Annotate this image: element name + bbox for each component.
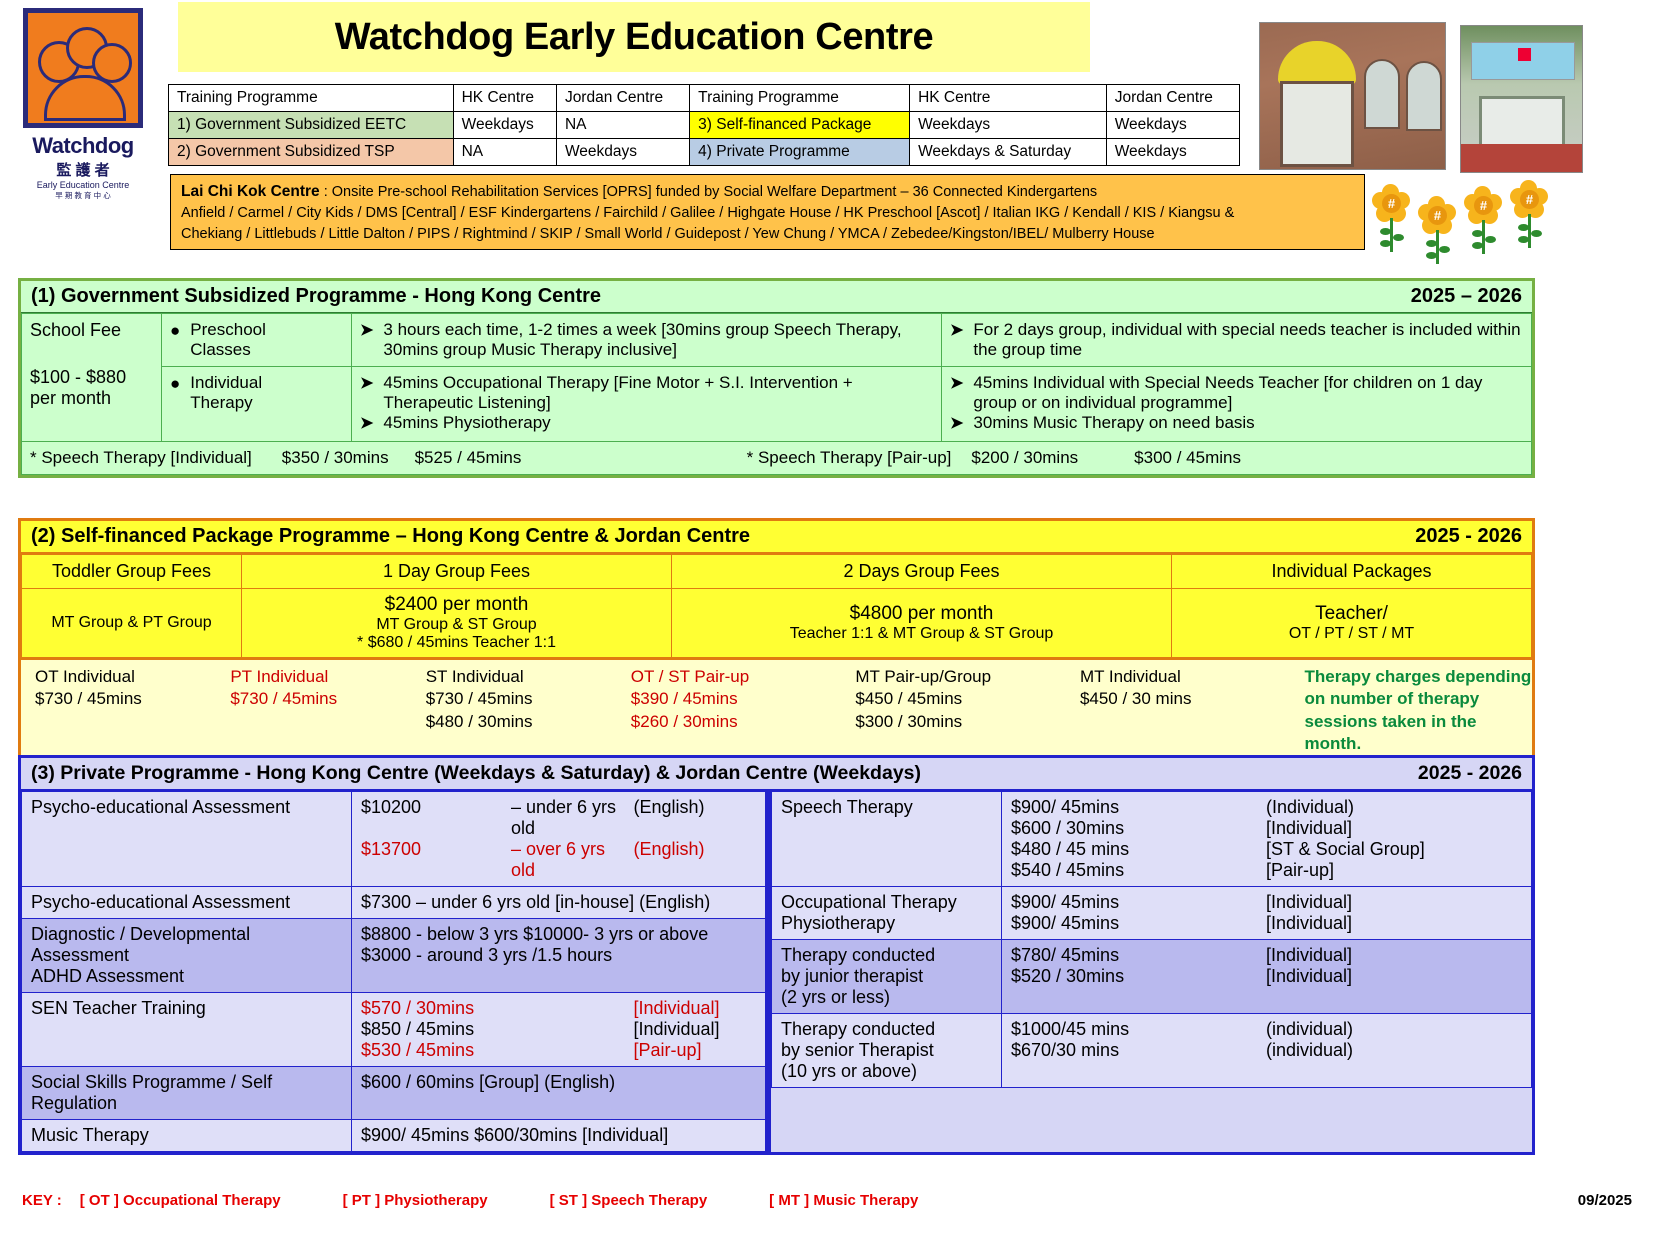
price-language: [Individual]	[634, 1019, 757, 1040]
price-note: – under 6 yrs old	[511, 797, 634, 839]
header-cell: Weekdays	[1106, 139, 1239, 166]
lai-chi-kok-info-box: Lai Chi Kok Centre : Onsite Pre-school R…	[170, 174, 1365, 250]
lck-label: Lai Chi Kok Centre	[181, 183, 320, 200]
section1-bullet-cell: ●IndividualTherapy	[162, 367, 352, 442]
section3-years: 2025 - 2026	[1418, 762, 1522, 785]
section3-therapy-price-cell: $780/ 45mins[Individual]$520 / 30mins[In…	[1002, 940, 1532, 1014]
awning-shape	[1278, 41, 1356, 85]
arch-window-2	[1406, 61, 1442, 131]
arrow-icon: ➤	[950, 320, 963, 342]
individual-title: OT / ST Pair-up	[631, 666, 842, 688]
price-line: $900/ 45mins $600/30mins [Individual]	[361, 1125, 756, 1146]
label-line: Therapy conducted	[781, 1019, 992, 1040]
price-note	[511, 998, 634, 1019]
price-amount: $900/ 45mins	[1011, 913, 1266, 934]
logo-name: Watchdog	[32, 133, 134, 159]
section2-body-line: $2400 per month	[248, 594, 665, 616]
price-line: $7300 – under 6 yrs old [in-house] (Engl…	[361, 892, 756, 913]
label-line: SEN Teacher Training	[31, 998, 342, 1019]
header-cell: 1) Government Subsidized EETC	[169, 112, 454, 139]
logo-chinese: 監 護 者	[56, 159, 109, 180]
price-note: [Individual]	[1266, 892, 1522, 913]
label-line: Social Skills Programme / Self Regulatio…	[31, 1072, 342, 1114]
section2-body-cell: $4800 per monthTeacher 1:1 & MT Group & …	[672, 589, 1172, 658]
section3-right-column: Speech Therapy$900/ 45mins(Individual)$6…	[771, 791, 1532, 1152]
individual-title: PT Individual	[230, 666, 411, 688]
section2-individual-item: MT Pair-up/Group$450 / 45mins$300 / 30mi…	[841, 666, 1066, 756]
individual-price: $390 / 45mins	[631, 688, 842, 710]
bullet-icon: ●	[170, 373, 180, 413]
label-line: Speech Therapy	[781, 797, 992, 818]
flower-icon: #	[1510, 180, 1548, 218]
hk-centre-photo	[1259, 22, 1446, 170]
page-header: Watchdog 監 護 者 Early Education Centre 早 …	[0, 0, 1653, 262]
section3-right-row: Therapy conductedby junior therapist(2 y…	[772, 940, 1532, 1014]
section2-body-line: OT / PT / ST / MT	[1178, 625, 1525, 643]
header-col-5: HK Centre	[910, 85, 1107, 112]
section1-right-text: 45mins Individual with Special Needs Tea…	[973, 373, 1523, 413]
section2-body-line: Teacher 1:1 & MT Group & ST Group	[678, 625, 1165, 643]
price-note: (individual)	[1266, 1040, 1522, 1061]
individual-price: $450 / 30 mins	[1080, 688, 1291, 710]
price-note: [Individual]	[1266, 913, 1522, 934]
section3-price-cell: $570 / 30mins[Individual]$850 / 45mins[I…	[352, 993, 766, 1067]
header-col-6: Jordan Centre	[1106, 85, 1239, 112]
flower-icon: #	[1464, 186, 1502, 224]
section1-mid-text: 3 hours each time, 1-2 times a week [30m…	[383, 320, 933, 360]
note-line: on number of therapy	[1305, 688, 1532, 710]
price-amount: $520 / 30mins	[1011, 966, 1266, 987]
lck-line3: Chekiang / Littlebuds / Little Dalton / …	[181, 224, 1354, 245]
price-amount: $1000/45 mins	[1011, 1019, 1266, 1040]
individual-price: $730 / 45mins	[230, 688, 411, 710]
price-amount: $570 / 30mins	[361, 998, 511, 1019]
header-cell: Weekdays	[1106, 112, 1239, 139]
section3-therapy-price-cell: $1000/45 mins(individual)$670/30 mins(in…	[1002, 1014, 1532, 1088]
price-amount: $900/ 45mins	[1011, 797, 1266, 818]
section2-header: 2 Days Group Fees	[672, 555, 1172, 589]
price-amount: $600 / 30mins	[1011, 818, 1266, 839]
section1-row: School Fee$100 - $880per month●Preschool…	[22, 314, 1532, 367]
bullet-icon: ●	[170, 320, 180, 360]
header-cell: Weekdays	[556, 139, 689, 166]
header-cell: Weekdays	[453, 112, 556, 139]
label-line: Physiotherapy	[781, 913, 992, 934]
price-amount: $540 / 45mins	[1011, 860, 1266, 881]
section1-right-cell: ➤For 2 days group, individual with speci…	[942, 314, 1532, 367]
section1-table: School Fee$100 - $880per month●Preschool…	[21, 313, 1532, 475]
price-note: [Individual]	[1266, 966, 1522, 987]
price-line: $3000 - around 3 yrs /1.5 hours	[361, 945, 756, 966]
section2-header: 1 Day Group Fees	[242, 555, 672, 589]
header-col-1: Training Programme	[169, 85, 454, 112]
section1-mid-cell: ➤3 hours each time, 1-2 times a week [30…	[352, 314, 942, 367]
header-col-4: Training Programme	[690, 85, 910, 112]
section3-price-cell: $900/ 45mins $600/30mins [Individual]	[352, 1120, 766, 1152]
section-self-financed: (2) Self-financed Package Programme – Ho…	[18, 518, 1535, 767]
section3-price-cell: $8800 - below 3 yrs $10000- 3 yrs or abo…	[352, 919, 766, 993]
entrance-door	[1280, 81, 1354, 167]
school-fee-cell: School Fee$100 - $880per month	[22, 314, 162, 442]
label-line: Music Therapy	[31, 1125, 342, 1146]
wall-base	[1461, 144, 1583, 173]
section1-title: (1) Government Subsidized Programme - Ho…	[31, 285, 601, 308]
page-title-text: Watchdog Early Education Centre	[335, 16, 934, 59]
watchdog-logo: Watchdog 監 護 者 Early Education Centre 早 …	[8, 8, 158, 248]
arrow-icon: ➤	[950, 373, 963, 395]
arch-window-1	[1364, 59, 1400, 129]
section2-body-line: $4800 per month	[678, 603, 1165, 625]
logo-subtitle-en: Early Education Centre	[37, 180, 130, 190]
arrow-icon: ➤	[360, 413, 373, 435]
arrow-icon: ➤	[360, 373, 373, 395]
section1-years: 2025 – 2026	[1411, 285, 1522, 308]
section3-service-label: Psycho-educational Assessment	[22, 887, 352, 919]
section1-row: ●IndividualTherapy➤45mins Occupational T…	[22, 367, 1532, 442]
section2-body-line: MT Group & ST Group	[248, 616, 665, 634]
section2-individual-item: PT Individual$730 / 45mins	[216, 666, 411, 756]
section3-left-row: Diagnostic / Developmental AssessmentADH…	[22, 919, 766, 993]
section1-band: (1) Government Subsidized Programme - Ho…	[21, 281, 1532, 313]
price-language: [Individual]	[634, 998, 757, 1019]
page-title: Watchdog Early Education Centre	[178, 2, 1090, 72]
flower-decoration: ####	[1372, 180, 1572, 256]
speech-right-price2: $300 / 45mins	[1134, 448, 1241, 467]
section3-right-row: Therapy conductedby senior Therapist(10 …	[772, 1014, 1532, 1088]
section2-individual-fees: OT Individual$730 / 45minsPT Individual$…	[21, 658, 1532, 764]
section2-years: 2025 - 2026	[1415, 525, 1522, 548]
version-date: 09/2025	[1578, 1192, 1632, 1209]
section1-mid-text: 45mins Occupational Therapy [Fine Motor …	[383, 373, 933, 413]
price-amount: $780/ 45mins	[1011, 945, 1266, 966]
section2-individual-item: OT / ST Pair-up$390 / 45mins$260 / 30min…	[617, 666, 842, 756]
key-item: [ OT ] Occupational Therapy	[80, 1192, 281, 1209]
section1-mid-cell: ➤45mins Occupational Therapy [Fine Motor…	[352, 367, 942, 442]
label-line: by senior Therapist	[781, 1040, 992, 1061]
programme-centre-table: Training ProgrammeHK CentreJordan Centre…	[168, 84, 1240, 166]
section2-body-line: Teacher/	[1178, 603, 1525, 625]
speech-right-price1: $200 / 30mins	[971, 448, 1078, 467]
label-line: by junior therapist	[781, 966, 992, 987]
individual-title: OT Individual	[35, 666, 216, 688]
section3-service-label: Diagnostic / Developmental AssessmentADH…	[22, 919, 352, 993]
section3-service-label: Psycho-educational Assessment	[22, 792, 352, 887]
price-amount: $900/ 45mins	[1011, 892, 1266, 913]
label-line: Therapy conducted	[781, 945, 992, 966]
label-line: Diagnostic / Developmental Assessment	[31, 924, 342, 966]
key-item: [ MT ] Music Therapy	[769, 1192, 918, 1209]
header-cell: NA	[453, 139, 556, 166]
section3-therapy-label: Therapy conductedby junior therapist(2 y…	[772, 940, 1002, 1014]
price-note: [Individual]	[1266, 945, 1522, 966]
section3-band: (3) Private Programme - Hong Kong Centre…	[21, 758, 1532, 791]
section3-left-row: SEN Teacher Training$570 / 30mins[Indivi…	[22, 993, 766, 1067]
bullet-label: IndividualTherapy	[190, 373, 262, 413]
price-note: (Individual)	[1266, 797, 1522, 818]
header-cell: 2) Government Subsidized TSP	[169, 139, 454, 166]
key-legend: KEY :[ OT ] Occupational Therapy[ PT ] P…	[22, 1192, 1632, 1209]
section2-note: Therapy charges dependingon number of th…	[1291, 666, 1532, 756]
flower-icon: #	[1418, 196, 1456, 234]
individual-price: $300 / 30mins	[855, 711, 1066, 733]
section3-service-label: Social Skills Programme / Self Regulatio…	[22, 1067, 352, 1120]
key-item: [ ST ] Speech Therapy	[550, 1192, 708, 1209]
section3-right-table: Speech Therapy$900/ 45mins(Individual)$6…	[771, 791, 1532, 1088]
section2-individual-item: ST Individual$730 / 45mins$480 / 30mins	[412, 666, 617, 756]
flower-icon: #	[1372, 184, 1410, 222]
section3-title: (3) Private Programme - Hong Kong Centre…	[31, 762, 921, 785]
key-prefix: KEY :	[22, 1192, 62, 1209]
price-note: [Pair-up]	[1266, 860, 1522, 881]
section2-individual-item: OT Individual$730 / 45mins	[21, 666, 216, 756]
section3-right-row: Speech Therapy$900/ 45mins(Individual)$6…	[772, 792, 1532, 887]
section3-therapy-price-cell: $900/ 45mins[Individual]$900/ 45mins[Ind…	[1002, 887, 1532, 940]
label-line: (10 yrs or above)	[781, 1061, 992, 1082]
section3-service-label: Music Therapy	[22, 1120, 352, 1152]
section1-right-text: For 2 days group, individual with specia…	[973, 320, 1523, 360]
speech-right-label: * Speech Therapy [Pair-up]	[747, 448, 952, 467]
label-line: ADHD Assessment	[31, 966, 342, 987]
speech-left-price2: $525 / 45mins	[415, 448, 522, 467]
section3-service-label: SEN Teacher Training	[22, 993, 352, 1067]
individual-price: $450 / 45mins	[855, 688, 1066, 710]
section2-body-cell: MT Group & PT Group	[22, 589, 242, 658]
price-amount: $850 / 45mins	[361, 1019, 511, 1040]
header-cell: 4) Private Programme	[690, 139, 910, 166]
price-language: (English)	[634, 839, 757, 881]
logo-icon	[23, 8, 143, 128]
lck-line2: Anfield / Carmel / City Kids / DMS [Cent…	[181, 203, 1354, 224]
price-note: [ST & Social Group]	[1266, 839, 1522, 860]
section-private-programme: (3) Private Programme - Hong Kong Centre…	[18, 755, 1535, 1155]
speech-left-price1: $350 / 30mins	[282, 448, 389, 467]
section2-header: Toddler Group Fees	[22, 555, 242, 589]
section2-body-line: MT Group & PT Group	[28, 614, 235, 632]
section3-left-row: Social Skills Programme / Self Regulatio…	[22, 1067, 766, 1120]
bullet-label: PreschoolClasses	[190, 320, 266, 360]
section2-band: (2) Self-financed Package Programme – Ho…	[21, 521, 1532, 554]
jordan-centre-photo	[1460, 25, 1583, 173]
section3-left-row: Psycho-educational Assessment$7300 – und…	[22, 887, 766, 919]
section2-individual-item: MT Individual$450 / 30 mins	[1066, 666, 1291, 756]
fee-amount: $100 - $880	[30, 367, 153, 388]
price-amount: $10200	[361, 797, 511, 839]
label-line: Psycho-educational Assessment	[31, 892, 342, 913]
section3-price-cell: $7300 – under 6 yrs old [in-house] (Engl…	[352, 887, 766, 919]
price-line: $600 / 60mins [Group] (English)	[361, 1072, 756, 1093]
section3-right-row: Occupational TherapyPhysiotherapy$900/ 4…	[772, 887, 1532, 940]
individual-title: MT Pair-up/Group	[855, 666, 1066, 688]
key-item: [ PT ] Physiotherapy	[343, 1192, 488, 1209]
lck-line1: Onsite Pre-school Rehabilitation Service…	[332, 184, 1097, 200]
header-row: 2) Government Subsidized TSPNAWeekdays4)…	[169, 139, 1240, 166]
fee-period: per month	[30, 388, 153, 409]
section2-title: (2) Self-financed Package Programme – Ho…	[31, 525, 750, 548]
centre-banner	[1471, 42, 1575, 80]
individual-price: $730 / 45mins	[35, 688, 216, 710]
section3-price-cell: $600 / 60mins [Group] (English)	[352, 1067, 766, 1120]
section2-table: Toddler Group Fees1 Day Group Fees2 Days…	[21, 554, 1532, 658]
note-line: sessions taken in the month.	[1305, 711, 1532, 756]
price-amount: $670/30 mins	[1011, 1040, 1266, 1061]
section3-left-row: Psycho-educational Assessment$10200– und…	[22, 792, 766, 887]
header-col-2: HK Centre	[453, 85, 556, 112]
section3-therapy-label: Speech Therapy	[772, 792, 1002, 887]
fee-label: School Fee	[30, 320, 153, 341]
price-note	[511, 1040, 634, 1061]
price-note: – over 6 yrs old	[511, 839, 634, 881]
section1-bullet-cell: ●PreschoolClasses	[162, 314, 352, 367]
price-line: $8800 - below 3 yrs $10000- 3 yrs or abo…	[361, 924, 756, 945]
price-amount: $13700	[361, 839, 511, 881]
section3-left-row: Music Therapy$900/ 45mins $600/30mins [I…	[22, 1120, 766, 1152]
label-line: Psycho-educational Assessment	[31, 797, 342, 818]
section1-speech-row: * Speech Therapy [Individual]$350 / 30mi…	[22, 441, 1532, 474]
header-col-3: Jordan Centre	[556, 85, 689, 112]
price-amount: $530 / 45mins	[361, 1040, 511, 1061]
section2-body-cell: $2400 per monthMT Group & ST Group* $680…	[242, 589, 672, 658]
section-government-subsidized: (1) Government Subsidized Programme - Ho…	[18, 278, 1535, 478]
logo-subtitle-cn: 早 期 教 育 中 心	[55, 190, 110, 201]
section1-mid-text: 45mins Physiotherapy	[383, 413, 550, 433]
header-cell: Weekdays & Saturday	[910, 139, 1107, 166]
section2-body-cell: Teacher/OT / PT / ST / MT	[1172, 589, 1532, 658]
arrow-icon: ➤	[950, 413, 963, 435]
section1-right-cell: ➤45mins Individual with Special Needs Te…	[942, 367, 1532, 442]
price-note: (individual)	[1266, 1019, 1522, 1040]
lck-colon: :	[324, 184, 328, 200]
speech-left-label: * Speech Therapy [Individual]	[30, 448, 252, 467]
individual-price: $480 / 30mins	[426, 711, 617, 733]
note-line: Therapy charges depending	[1305, 666, 1532, 688]
label-line: (2 yrs or less)	[781, 987, 992, 1008]
section2-header: Individual Packages	[1172, 555, 1532, 589]
section3-price-cell: $10200– under 6 yrs old(English)$13700– …	[352, 792, 766, 887]
section3-therapy-label: Therapy conductedby senior Therapist(10 …	[772, 1014, 1002, 1088]
price-language: [Pair-up]	[634, 1040, 757, 1061]
individual-title: ST Individual	[426, 666, 617, 688]
section3-therapy-label: Occupational TherapyPhysiotherapy	[772, 887, 1002, 940]
section3-therapy-price-cell: $900/ 45mins(Individual)$600 / 30mins[In…	[1002, 792, 1532, 887]
header-cell: NA	[556, 112, 689, 139]
individual-title: MT Individual	[1080, 666, 1291, 688]
price-language: (English)	[634, 797, 757, 839]
label-line: Occupational Therapy	[781, 892, 992, 913]
price-note	[511, 1019, 634, 1040]
header-cell: Weekdays	[910, 112, 1107, 139]
section3-left-table: Psycho-educational Assessment$10200– und…	[21, 791, 766, 1152]
section2-body-line: * $680 / 45mins Teacher 1:1	[248, 634, 665, 652]
individual-price: $730 / 45mins	[426, 688, 617, 710]
section3-left-column: Psycho-educational Assessment$10200– und…	[21, 791, 771, 1152]
arrow-icon: ➤	[360, 320, 373, 342]
price-note: [Individual]	[1266, 818, 1522, 839]
individual-price: $260 / 30mins	[631, 711, 842, 733]
header-row: 1) Government Subsidized EETCWeekdaysNA3…	[169, 112, 1240, 139]
header-cell: 3) Self-financed Package	[690, 112, 910, 139]
price-amount: $480 / 45 mins	[1011, 839, 1266, 860]
section1-right-text: 30mins Music Therapy on need basis	[973, 413, 1254, 433]
